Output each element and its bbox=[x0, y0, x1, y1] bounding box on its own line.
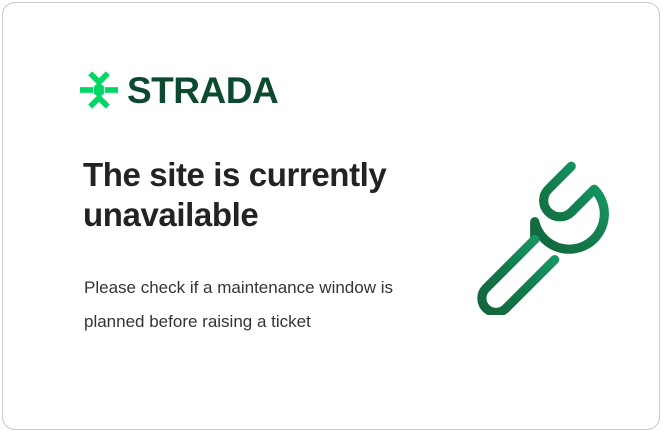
status-card: STRADA The site is currently unavailable… bbox=[2, 2, 660, 430]
strada-asterisk-icon bbox=[80, 71, 118, 109]
wrench-icon bbox=[455, 151, 619, 315]
page-title: The site is currently unavailable bbox=[83, 155, 413, 236]
error-page: STRADA The site is currently unavailable… bbox=[0, 0, 666, 436]
brand-lockup: STRADA bbox=[80, 71, 278, 109]
brand-wordmark: STRADA bbox=[127, 72, 278, 109]
page-description: Please check if a maintenance window is … bbox=[84, 271, 394, 339]
